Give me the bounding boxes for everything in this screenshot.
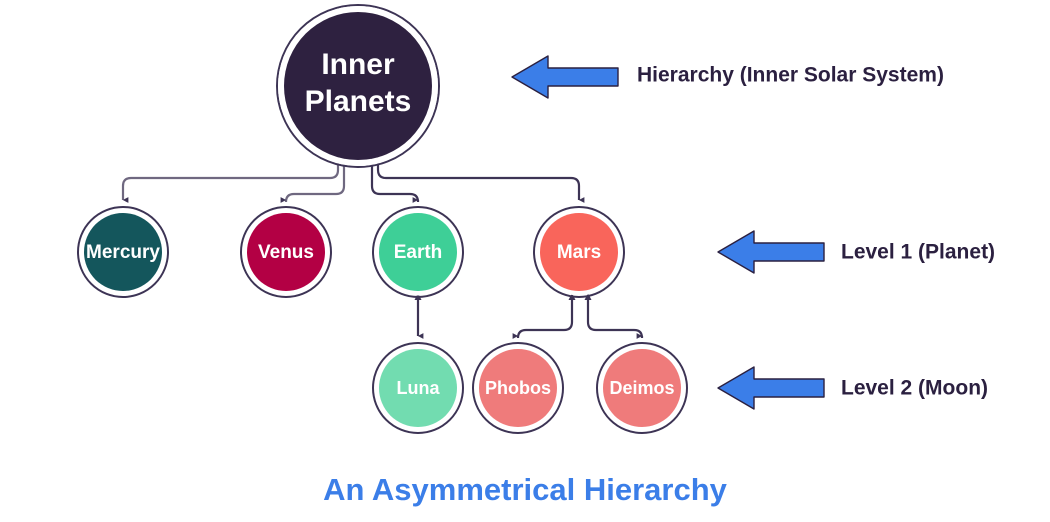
node-venus[interactable]: Venus [241, 207, 331, 297]
annotation-level-2-label: Level 2 (Moon) [841, 377, 988, 400]
node-earth[interactable]: Earth [373, 207, 463, 297]
node-phobos[interactable]: Phobos [473, 343, 563, 433]
venus-label: Venus [258, 242, 314, 263]
hierarchy-diagram: Inner Planets Mercury Venus Earth Mar [0, 0, 1050, 522]
phobos-label: Phobos [485, 378, 551, 398]
node-mars[interactable]: Mars [534, 207, 624, 297]
edge-mars-to-deimos [588, 298, 642, 338]
left-arrow-icon [718, 367, 824, 409]
annotation-level-1-label: Level 1 (Planet) [841, 241, 995, 264]
annotation-level-1: Level 1 (Planet) [718, 231, 995, 273]
node-mercury[interactable]: Mercury [78, 207, 168, 297]
left-arrow-icon [718, 231, 824, 273]
annotation-level-2: Level 2 (Moon) [718, 367, 988, 409]
node-luna[interactable]: Luna [373, 343, 463, 433]
node-inner-planets[interactable]: Inner Planets [277, 5, 439, 167]
left-arrow-icon [512, 56, 618, 98]
luna-label: Luna [397, 378, 441, 398]
mercury-label: Mercury [86, 242, 160, 263]
annotation-hierarchy-label: Hierarchy (Inner Solar System) [637, 64, 944, 87]
deimos-label: Deimos [609, 378, 674, 398]
node-deimos[interactable]: Deimos [597, 343, 687, 433]
root-label-line1: Inner [321, 48, 395, 81]
earth-label: Earth [394, 242, 443, 263]
edge-mars-to-phobos [518, 298, 572, 338]
mars-label: Mars [557, 242, 601, 263]
annotation-hierarchy: Hierarchy (Inner Solar System) [512, 56, 944, 98]
diagram-caption: An Asymmetrical Hierarchy [323, 472, 728, 507]
root-label-line2: Planets [305, 85, 412, 118]
edge-group-moons [415, 293, 643, 338]
